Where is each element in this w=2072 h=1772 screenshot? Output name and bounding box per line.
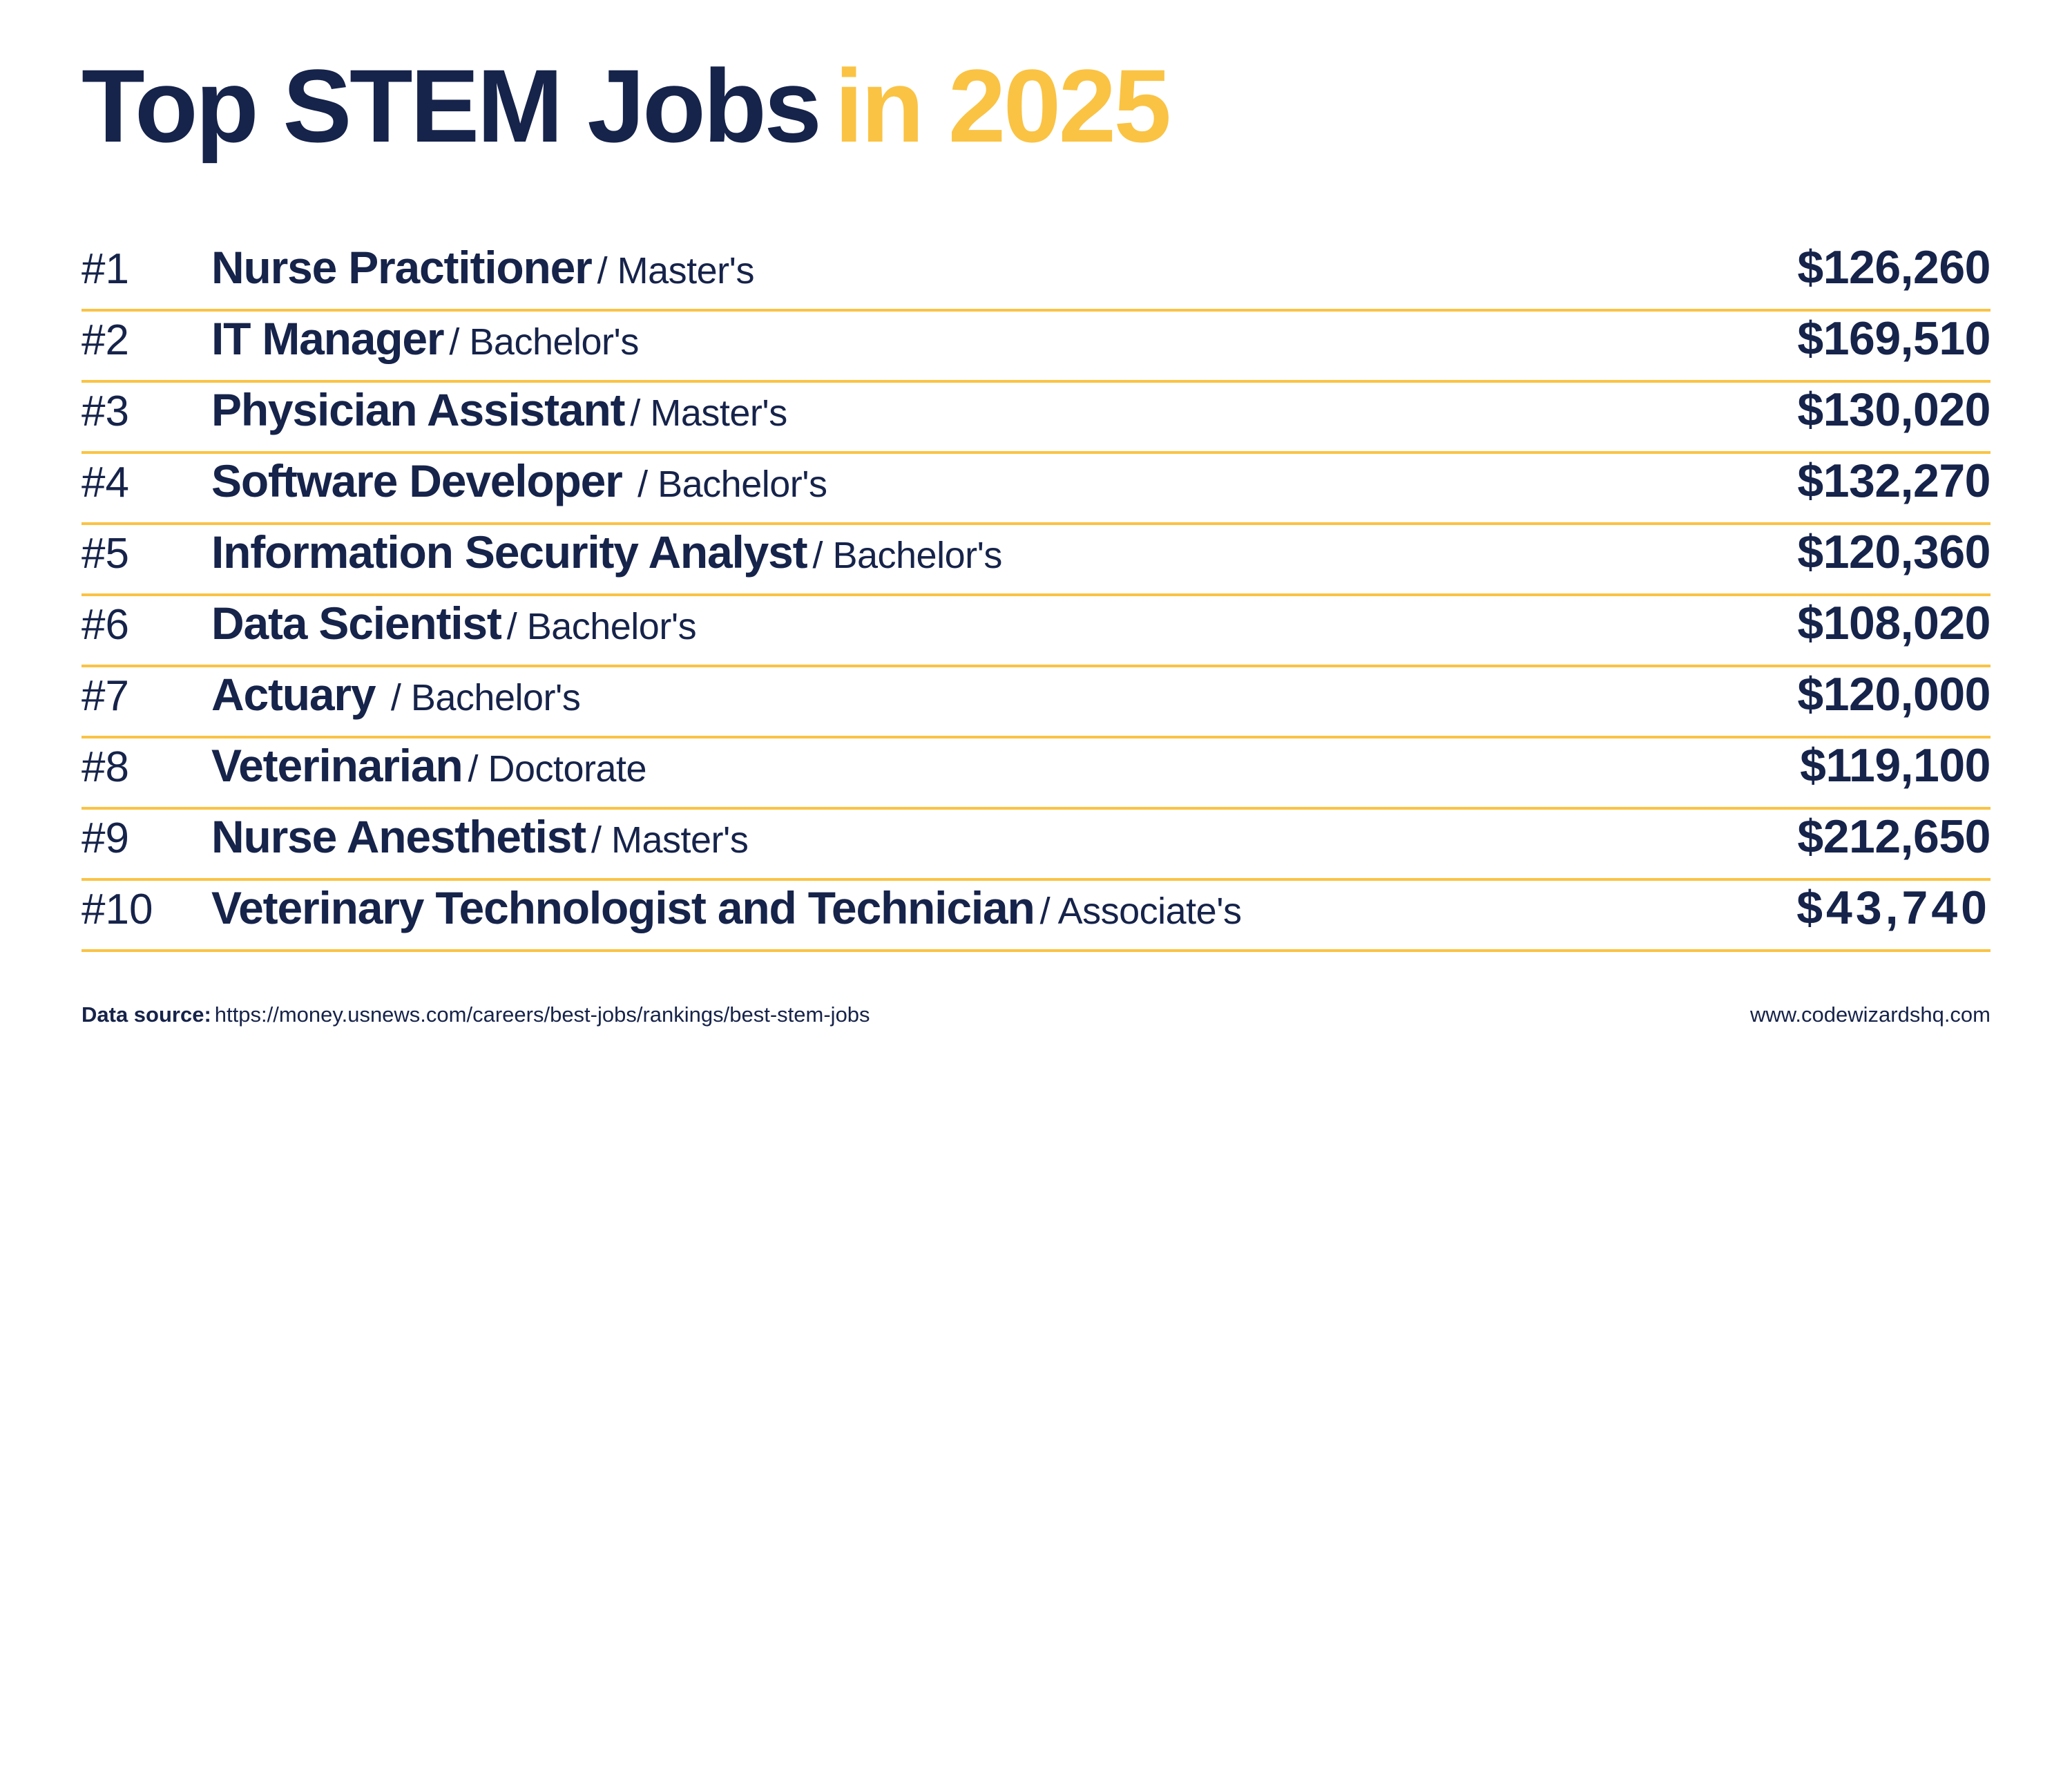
table-row: #7 Actuary / Bachelor's $120,000 (81, 667, 1991, 739)
salary-value: $119,100 (1666, 739, 1991, 792)
job-degree: / Master's (591, 819, 748, 861)
job-cell: Veterinary Technologist and Technician/ … (211, 882, 1666, 934)
job-degree: / Master's (630, 392, 787, 434)
rank-label: #6 (81, 600, 211, 649)
job-cell: Actuary / Bachelor's (211, 668, 1666, 721)
rank-label: #7 (81, 671, 211, 721)
salary-value: $169,510 (1666, 312, 1991, 365)
salary-value: $126,260 (1666, 240, 1991, 294)
job-degree: / Bachelor's (628, 464, 827, 505)
salary-value: $120,360 (1666, 525, 1991, 579)
table-row: #2 IT Manager/ Bachelor's $169,510 (81, 312, 1991, 383)
data-source-label: Data source: (81, 1002, 211, 1027)
job-cell: Nurse Practitioner/ Master's (211, 241, 1666, 294)
salary-value: $120,000 (1666, 667, 1991, 721)
title-accent-text: in 2025 (834, 54, 1169, 158)
job-cell: Veterinarian/ Doctorate (211, 739, 1666, 792)
salary-value: $108,020 (1666, 596, 1991, 650)
data-source: Data source:https://money.usnews.com/car… (81, 1002, 870, 1027)
job-degree: / Bachelor's (812, 535, 1001, 576)
job-title: Veterinary Technologist and Technician (211, 882, 1035, 933)
site-url[interactable]: www.codewizardshq.com (1750, 1002, 1991, 1027)
job-title: Software Developer (211, 455, 622, 506)
rank-label: #1 (81, 245, 211, 294)
salary-value: $212,650 (1666, 810, 1991, 864)
rank-label: #10 (81, 885, 211, 934)
table-row: #8 Veterinarian/ Doctorate $119,100 (81, 739, 1991, 810)
job-cell: Information Security Analyst/ Bachelor's (211, 526, 1666, 578)
salary-value: $132,270 (1666, 454, 1991, 508)
job-cell: Nurse Anesthetist/ Master's (211, 810, 1666, 863)
rank-label: #9 (81, 814, 211, 863)
rank-label: #4 (81, 458, 211, 507)
rank-label: #3 (81, 387, 211, 436)
job-title: Veterinarian (211, 740, 462, 791)
rank-label: #5 (81, 529, 211, 578)
title-main-text: Top STEM Jobs (81, 54, 819, 158)
jobs-list: #1 Nurse Practitioner/ Master's $126,260… (81, 240, 1991, 952)
job-degree: / Master's (597, 250, 754, 292)
job-title: Nurse Anesthetist (211, 811, 586, 862)
job-title: Physician Assistant (211, 384, 624, 435)
table-row: #10 Veterinary Technologist and Technici… (81, 881, 1991, 952)
table-row: #1 Nurse Practitioner/ Master's $126,260 (81, 240, 1991, 312)
table-row: #3 Physician Assistant/ Master's $130,02… (81, 383, 1991, 454)
job-title: Data Scientist (211, 598, 501, 649)
salary-value: $130,020 (1666, 383, 1991, 437)
table-row: #9 Nurse Anesthetist/ Master's $212,650 (81, 810, 1991, 881)
job-title: Information Security Analyst (211, 526, 807, 578)
table-row: #4 Software Developer / Bachelor's $132,… (81, 454, 1991, 525)
job-degree: / Associate's (1040, 890, 1242, 932)
salary-value: $43,740 (1666, 881, 1991, 935)
job-cell: Physician Assistant/ Master's (211, 383, 1666, 436)
job-cell: IT Manager/ Bachelor's (211, 312, 1666, 365)
job-title: IT Manager (211, 313, 443, 364)
job-degree: / Doctorate (468, 748, 646, 790)
job-degree: / Bachelor's (449, 321, 638, 363)
job-cell: Data Scientist/ Bachelor's (211, 597, 1666, 649)
table-row: #6 Data Scientist/ Bachelor's $108,020 (81, 596, 1991, 667)
footer: Data source:https://money.usnews.com/car… (81, 1002, 1991, 1027)
job-degree: / Bachelor's (507, 606, 696, 647)
job-title: Actuary (211, 669, 375, 720)
infographic-root: Top STEM Jobsin 2025 #1 Nurse Practition… (0, 0, 2072, 1772)
table-row: #5 Information Security Analyst/ Bachelo… (81, 525, 1991, 596)
job-cell: Software Developer / Bachelor's (211, 455, 1666, 507)
job-title: Nurse Practitioner (211, 242, 592, 293)
job-degree: / Bachelor's (381, 677, 580, 718)
data-source-url[interactable]: https://money.usnews.com/careers/best-jo… (215, 1002, 870, 1027)
rank-label: #8 (81, 743, 211, 792)
rank-label: #2 (81, 316, 211, 365)
page-title: Top STEM Jobsin 2025 (81, 0, 1991, 158)
